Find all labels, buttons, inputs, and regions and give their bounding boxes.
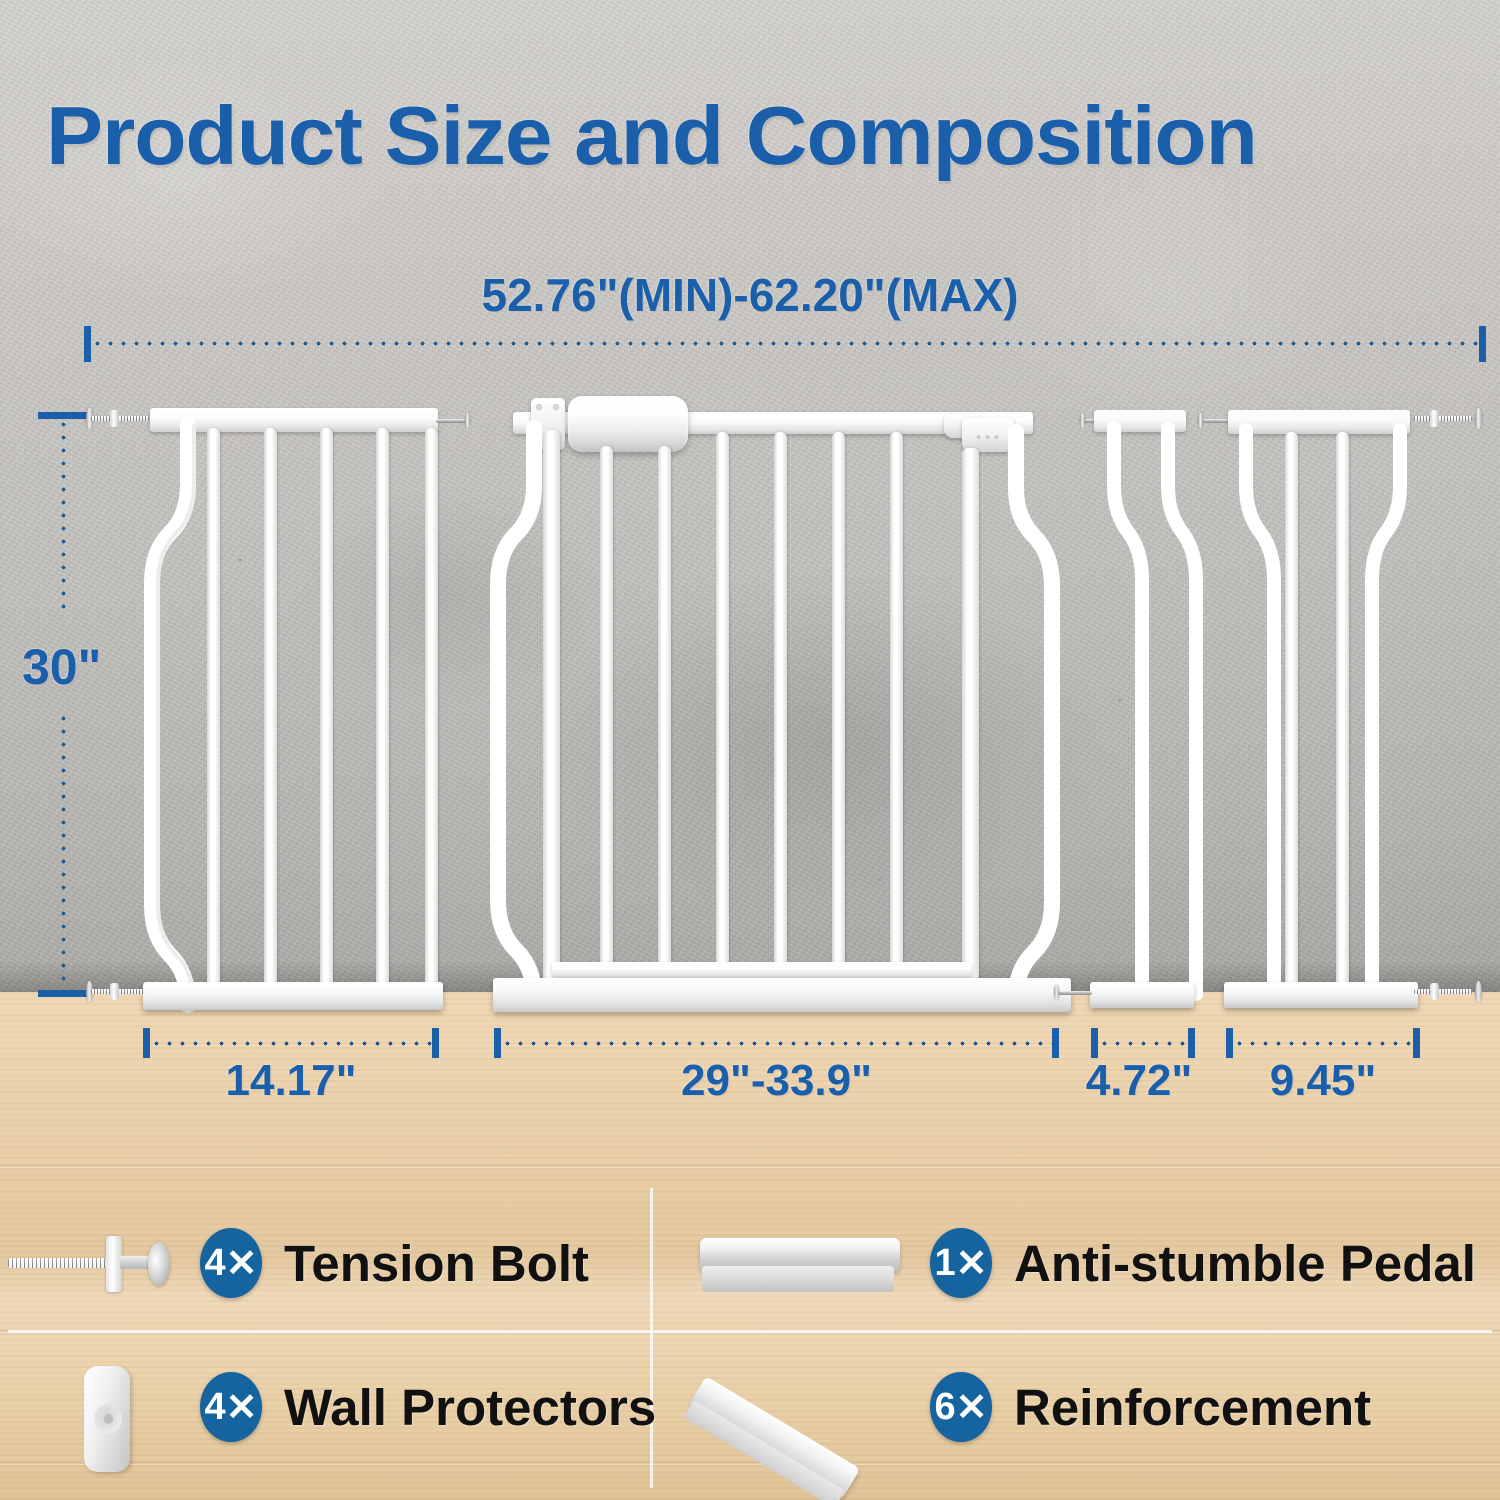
panel-bar — [1285, 432, 1298, 988]
legend-label: Reinforcement — [1014, 1378, 1371, 1437]
badge-times-icon: ✕ — [956, 1385, 988, 1430]
page-title: Product Size and Composition — [46, 88, 1500, 184]
legend-vertical-divider — [650, 1188, 653, 1488]
legend-label: Anti-stumble Pedal — [1014, 1234, 1476, 1293]
reinforcement-icon — [706, 1356, 906, 1486]
gate-handle[interactable] — [568, 396, 688, 452]
tension-bolt-icon — [1414, 985, 1482, 997]
badge-times-icon: ✕ — [956, 1241, 988, 1286]
panel-bar — [376, 428, 389, 1006]
dim-endcap — [1226, 1028, 1233, 1058]
tension-bolt-icon — [1414, 412, 1482, 424]
dim-endcap — [143, 1028, 150, 1058]
medium-extension-dimension-line — [1233, 1041, 1415, 1046]
quantity-badge: 4✕ — [200, 1228, 262, 1298]
panel-base-rail — [1090, 982, 1194, 1008]
gate-right-curved-frame — [1000, 432, 1070, 998]
gate-bar — [774, 432, 787, 976]
legend-label: Tension Bolt — [284, 1234, 589, 1293]
badge-times-icon: ✕ — [226, 1241, 258, 1286]
legend-item-wall-protectors: 4✕ Wall Protectors — [200, 1372, 656, 1442]
latch-dots — [974, 434, 1000, 440]
left-extension-dimension-line — [150, 1041, 433, 1046]
panel-bar — [425, 428, 438, 1006]
small-extension-dimension-line — [1098, 1041, 1190, 1046]
tension-bolt-icon — [8, 1234, 188, 1294]
legend-horizontal-divider — [8, 1330, 1492, 1333]
medium-extension-width-label: 9.45" — [1243, 1056, 1403, 1106]
dim-endcap — [1052, 1028, 1059, 1058]
height-dimension-line-upper — [61, 418, 66, 612]
legend-item-tension-bolt: 4✕ Tension Bolt — [200, 1228, 589, 1298]
floor-plank-seam — [0, 1165, 1500, 1168]
dim-endcap — [432, 1028, 439, 1058]
left-extension-width-label: 14.17" — [143, 1056, 439, 1106]
panel-base-rail — [1224, 982, 1418, 1008]
main-gate-dimension-line — [501, 1041, 1053, 1046]
legend-item-anti-stumble-pedal: 1✕ Anti-stumble Pedal — [930, 1228, 1476, 1298]
tension-bolt-icon — [86, 412, 154, 424]
gate-bar — [600, 446, 613, 976]
dim-endcap-left — [84, 326, 91, 362]
anti-stumble-pedal — [493, 978, 1071, 1012]
badge-qty: 4 — [205, 1386, 226, 1429]
gate-bar — [658, 446, 671, 976]
gate-door-bottom-rail — [552, 962, 972, 978]
wall-protector-icon — [78, 1366, 148, 1476]
dim-endcap-right — [1479, 326, 1486, 362]
tension-bolt-icon — [1054, 986, 1094, 998]
medium-panel-left-frame — [1228, 430, 1418, 994]
panel-bar — [1336, 432, 1349, 988]
height-dimension-line-lower — [61, 712, 66, 990]
panel-base-rail — [143, 982, 443, 1010]
dim-endcap — [1091, 1028, 1098, 1058]
panel-bar — [264, 428, 277, 1006]
gate-door-left-stile — [543, 430, 560, 988]
panel-bar — [207, 428, 220, 1006]
quantity-badge: 4✕ — [200, 1372, 262, 1442]
overall-width-label: 52.76"(MIN)-62.20"(MAX) — [0, 268, 1500, 322]
tension-bolt-icon — [86, 985, 148, 997]
dim-endcap — [1188, 1028, 1195, 1058]
gate-bar — [716, 432, 729, 976]
small-panel-bars — [1096, 428, 1206, 994]
legend-label: Wall Protectors — [284, 1378, 656, 1437]
gate-bar — [890, 432, 903, 976]
height-endcap-bottom — [38, 990, 90, 997]
main-gate-width-label: 29"-33.9" — [494, 1056, 1059, 1106]
panel-bar — [320, 428, 333, 1006]
quantity-badge: 1✕ — [930, 1228, 992, 1298]
gate-bar — [832, 432, 845, 976]
badge-qty: 6 — [935, 1386, 956, 1429]
height-label: 30" — [22, 638, 101, 696]
infographic-canvas: Product Size and Composition 52.76"(MIN)… — [0, 0, 1500, 1500]
small-extension-width-label: 4.72" — [1063, 1056, 1215, 1106]
panel-left-curved-frame — [140, 425, 210, 1005]
tension-bolt-icon — [436, 414, 472, 426]
anti-stumble-pedal-icon — [700, 1238, 910, 1298]
dim-endcap — [1413, 1028, 1420, 1058]
quantity-badge: 6✕ — [930, 1372, 992, 1442]
overall-width-dimension-line — [91, 341, 1482, 346]
badge-qty: 1 — [935, 1242, 956, 1285]
badge-qty: 4 — [205, 1242, 226, 1285]
dim-endcap — [494, 1028, 501, 1058]
legend-item-reinforcement: 6✕ Reinforcement — [930, 1372, 1371, 1442]
badge-times-icon: ✕ — [226, 1385, 258, 1430]
gate-door-right-stile — [962, 448, 979, 988]
